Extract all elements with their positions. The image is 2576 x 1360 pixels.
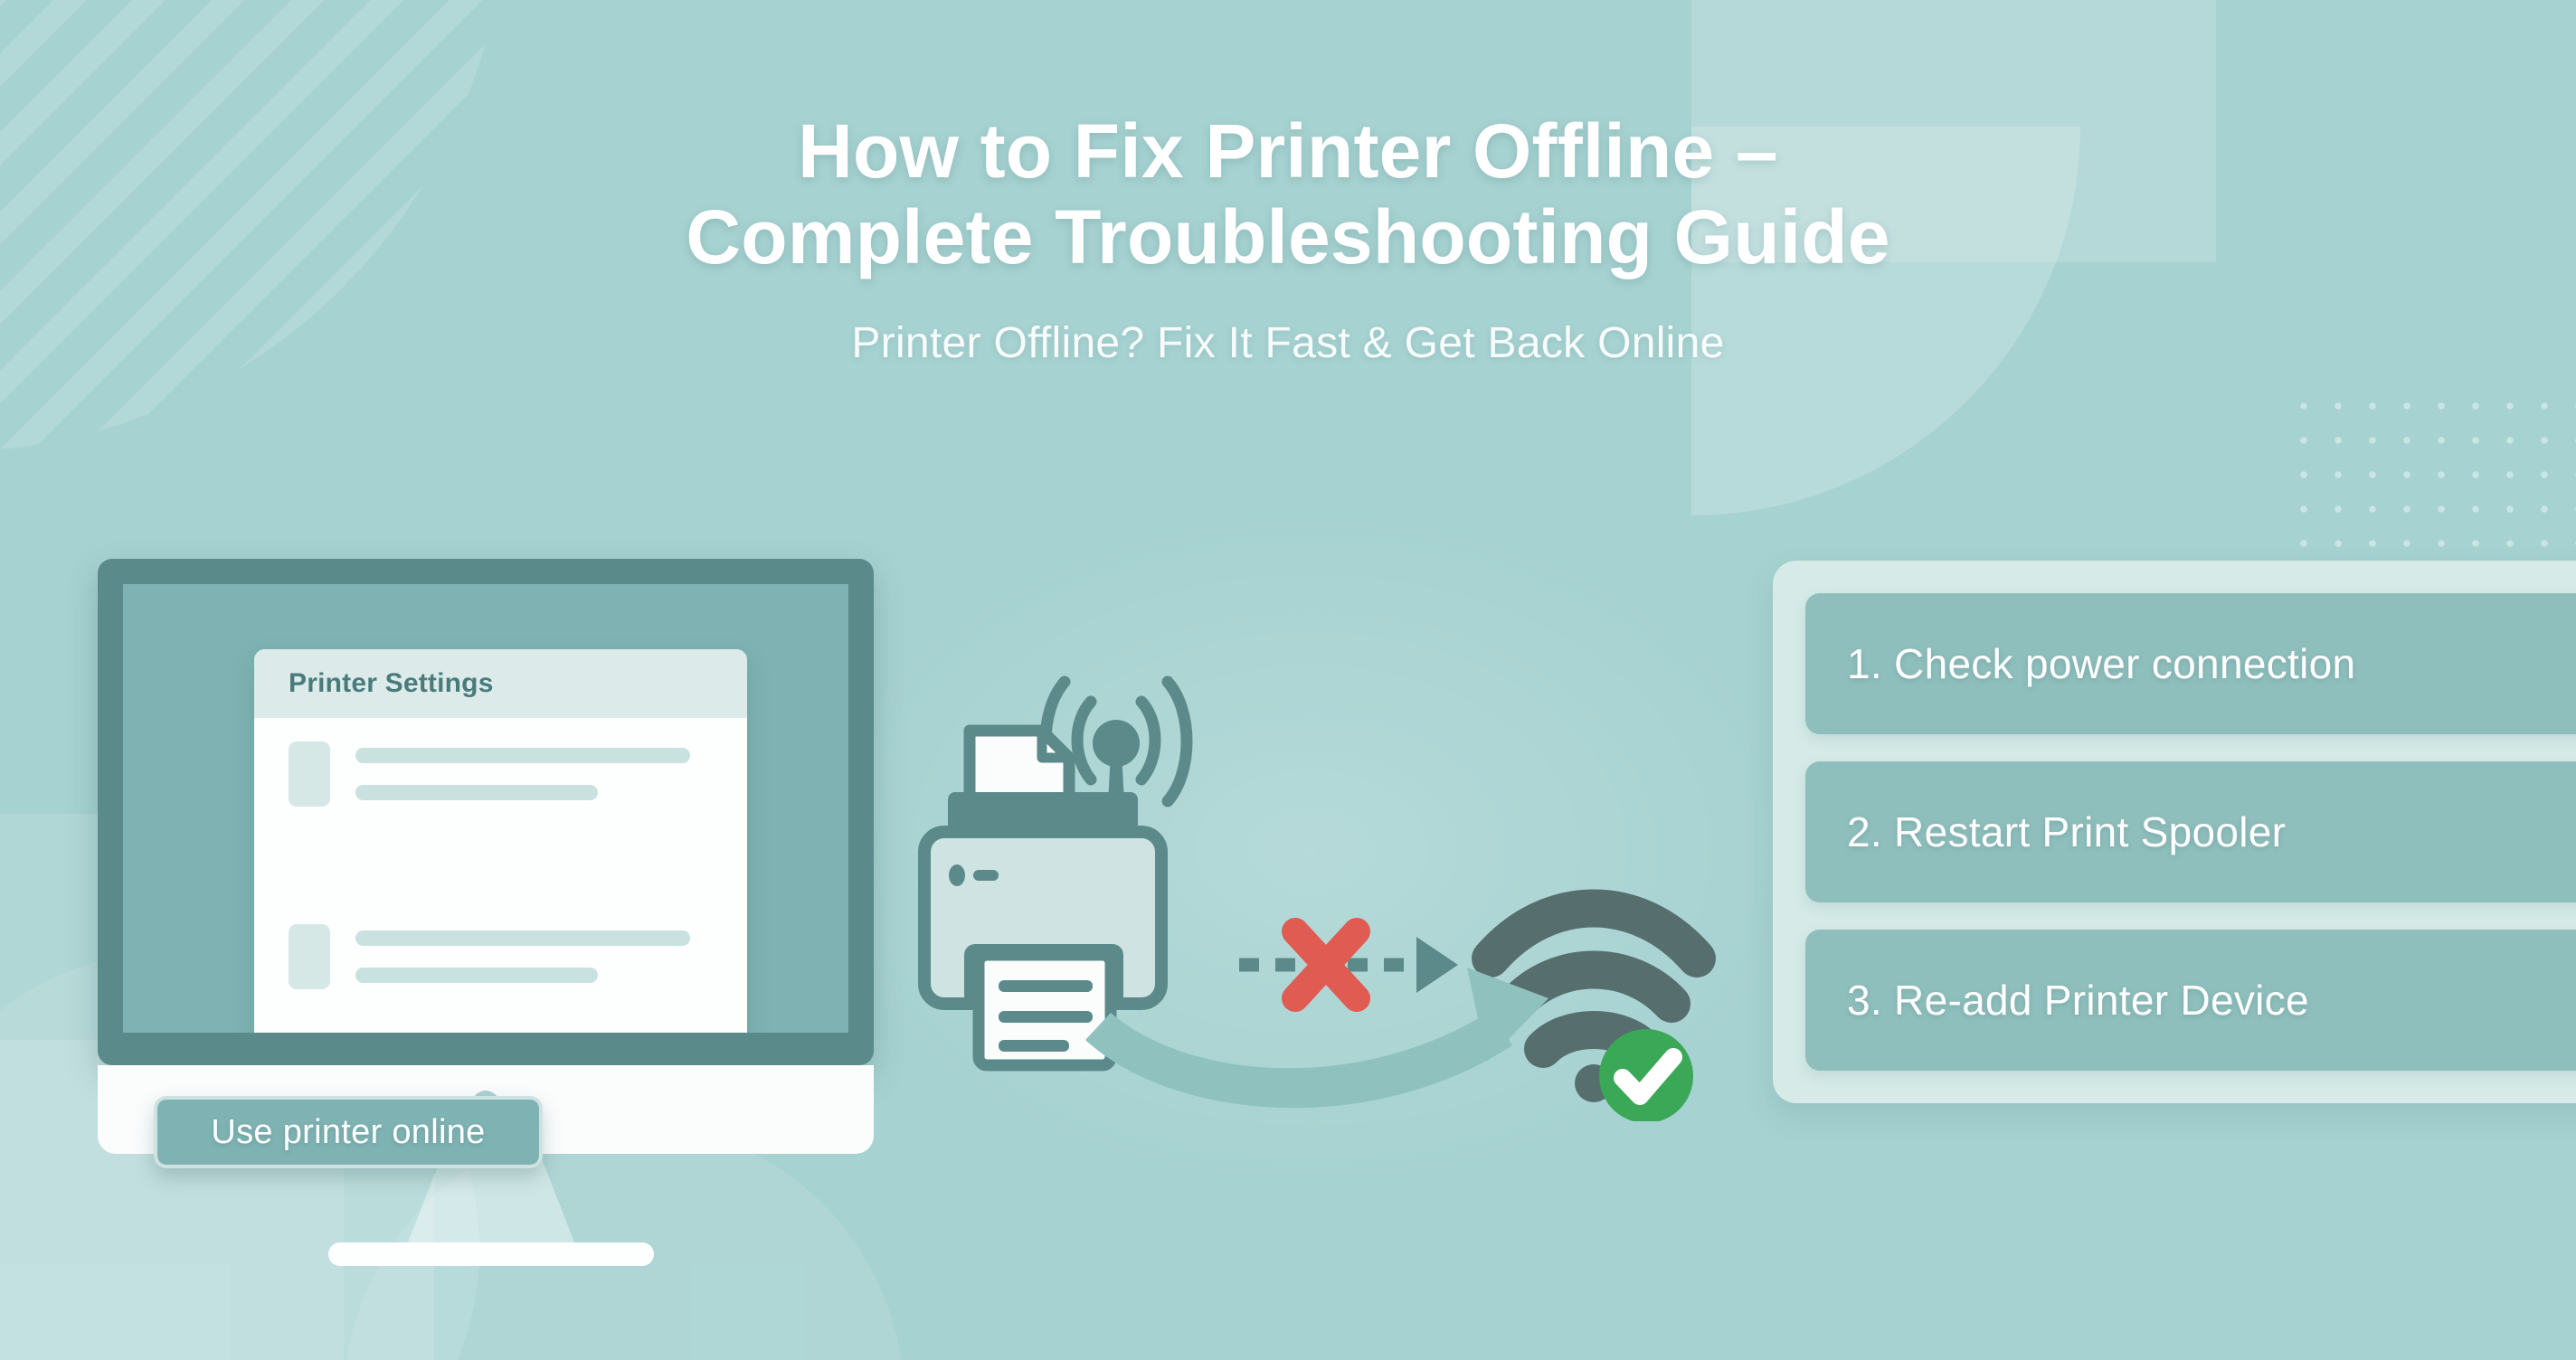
monitor-screen: Printer Settings (123, 584, 848, 1033)
settings-row-icon-placeholder (289, 741, 330, 807)
wifi-signal-icon (1491, 909, 1697, 1050)
printer-status-bar (973, 870, 999, 881)
banner-canvas: How to Fix Printer Offline – Complete Tr… (0, 0, 2576, 1360)
page-subtitle: Printer Offline? Fix It Fast & Get Back … (0, 318, 2576, 368)
settings-row-line-primary (355, 748, 690, 763)
use-printer-online-button[interactable]: Use printer online (154, 1096, 543, 1168)
settings-row-line-secondary (355, 785, 598, 800)
step-label: 1. Check power connection (1847, 639, 2355, 688)
banner-header: How to Fix Printer Offline – Complete Tr… (0, 109, 2576, 368)
step-card[interactable]: 2. Restart Print Spooler (1805, 761, 2576, 902)
settings-row-text-lines (355, 748, 690, 800)
settings-row-text-lines (355, 930, 690, 983)
page-title-line-1: How to Fix Printer Offline – (271, 109, 2305, 194)
use-printer-online-label: Use printer online (211, 1113, 485, 1152)
step-card[interactable]: 1. Check power connection (1805, 593, 2576, 734)
printer-settings-window: Printer Settings (254, 649, 747, 1033)
page-title: How to Fix Printer Offline – Complete Tr… (0, 109, 2576, 280)
desktop-monitor-illustration: Printer Settings (98, 559, 885, 1228)
page-title-line-2: Complete Troubleshooting Guide (271, 194, 2305, 280)
printer-status-light (949, 864, 965, 886)
settings-row-line-secondary (355, 968, 598, 983)
step-card[interactable]: 3. Re-add Printer Device (1805, 930, 2576, 1071)
settings-row (254, 718, 747, 807)
settings-row-icon-placeholder (289, 924, 330, 989)
settings-row-spacer (254, 807, 747, 901)
monitor-stand (404, 1154, 578, 1251)
troubleshooting-steps-panel: 1. Check power connection 2. Restart Pri… (1773, 561, 2576, 1103)
step-label: 2. Restart Print Spooler (1847, 807, 2286, 856)
printer-icon (924, 731, 1161, 1065)
monitor-bezel: Printer Settings (98, 559, 874, 1065)
printer-connection-diagram (904, 615, 1737, 1121)
step-label: 3. Re-add Printer Device (1847, 976, 2309, 1025)
settings-window-title: Printer Settings (289, 668, 494, 699)
antenna-knob (1093, 720, 1140, 767)
red-x-icon (1295, 931, 1357, 998)
settings-window-titlebar: Printer Settings (254, 649, 747, 718)
settings-row (254, 901, 747, 989)
settings-row-line-primary (355, 930, 690, 946)
green-check-badge-icon (1599, 1029, 1693, 1121)
monitor-base (328, 1242, 654, 1266)
